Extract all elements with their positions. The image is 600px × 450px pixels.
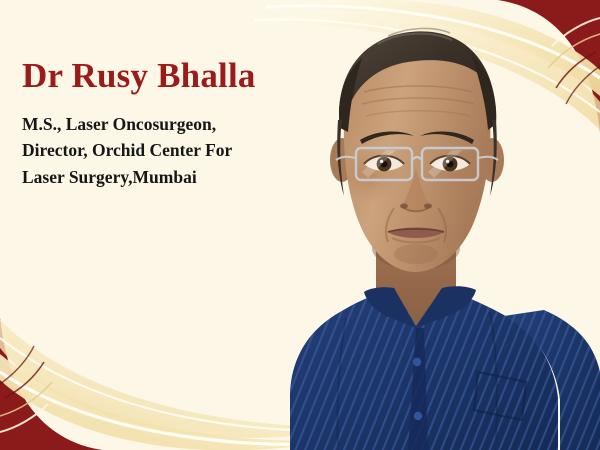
- portrait-illustration: [282, 0, 600, 450]
- shirt-button: [414, 412, 422, 420]
- credential-line-1: M.S., Laser Oncosurgeon,: [22, 111, 322, 138]
- shirt-button: [413, 358, 421, 366]
- doctor-name: Dr Rusy Bhalla: [22, 58, 322, 95]
- credential-line-3: Laser Surgery,Mumbai: [22, 164, 322, 191]
- doctor-portrait-photo: [282, 0, 600, 450]
- credentials-block: M.S., Laser Oncosurgeon, Director, Orchi…: [22, 111, 322, 191]
- credential-line-2: Director, Orchid Center For: [22, 137, 322, 164]
- text-block: Dr Rusy Bhalla M.S., Laser Oncosurgeon, …: [22, 58, 322, 191]
- promo-card: Dr Rusy Bhalla M.S., Laser Oncosurgeon, …: [0, 0, 600, 450]
